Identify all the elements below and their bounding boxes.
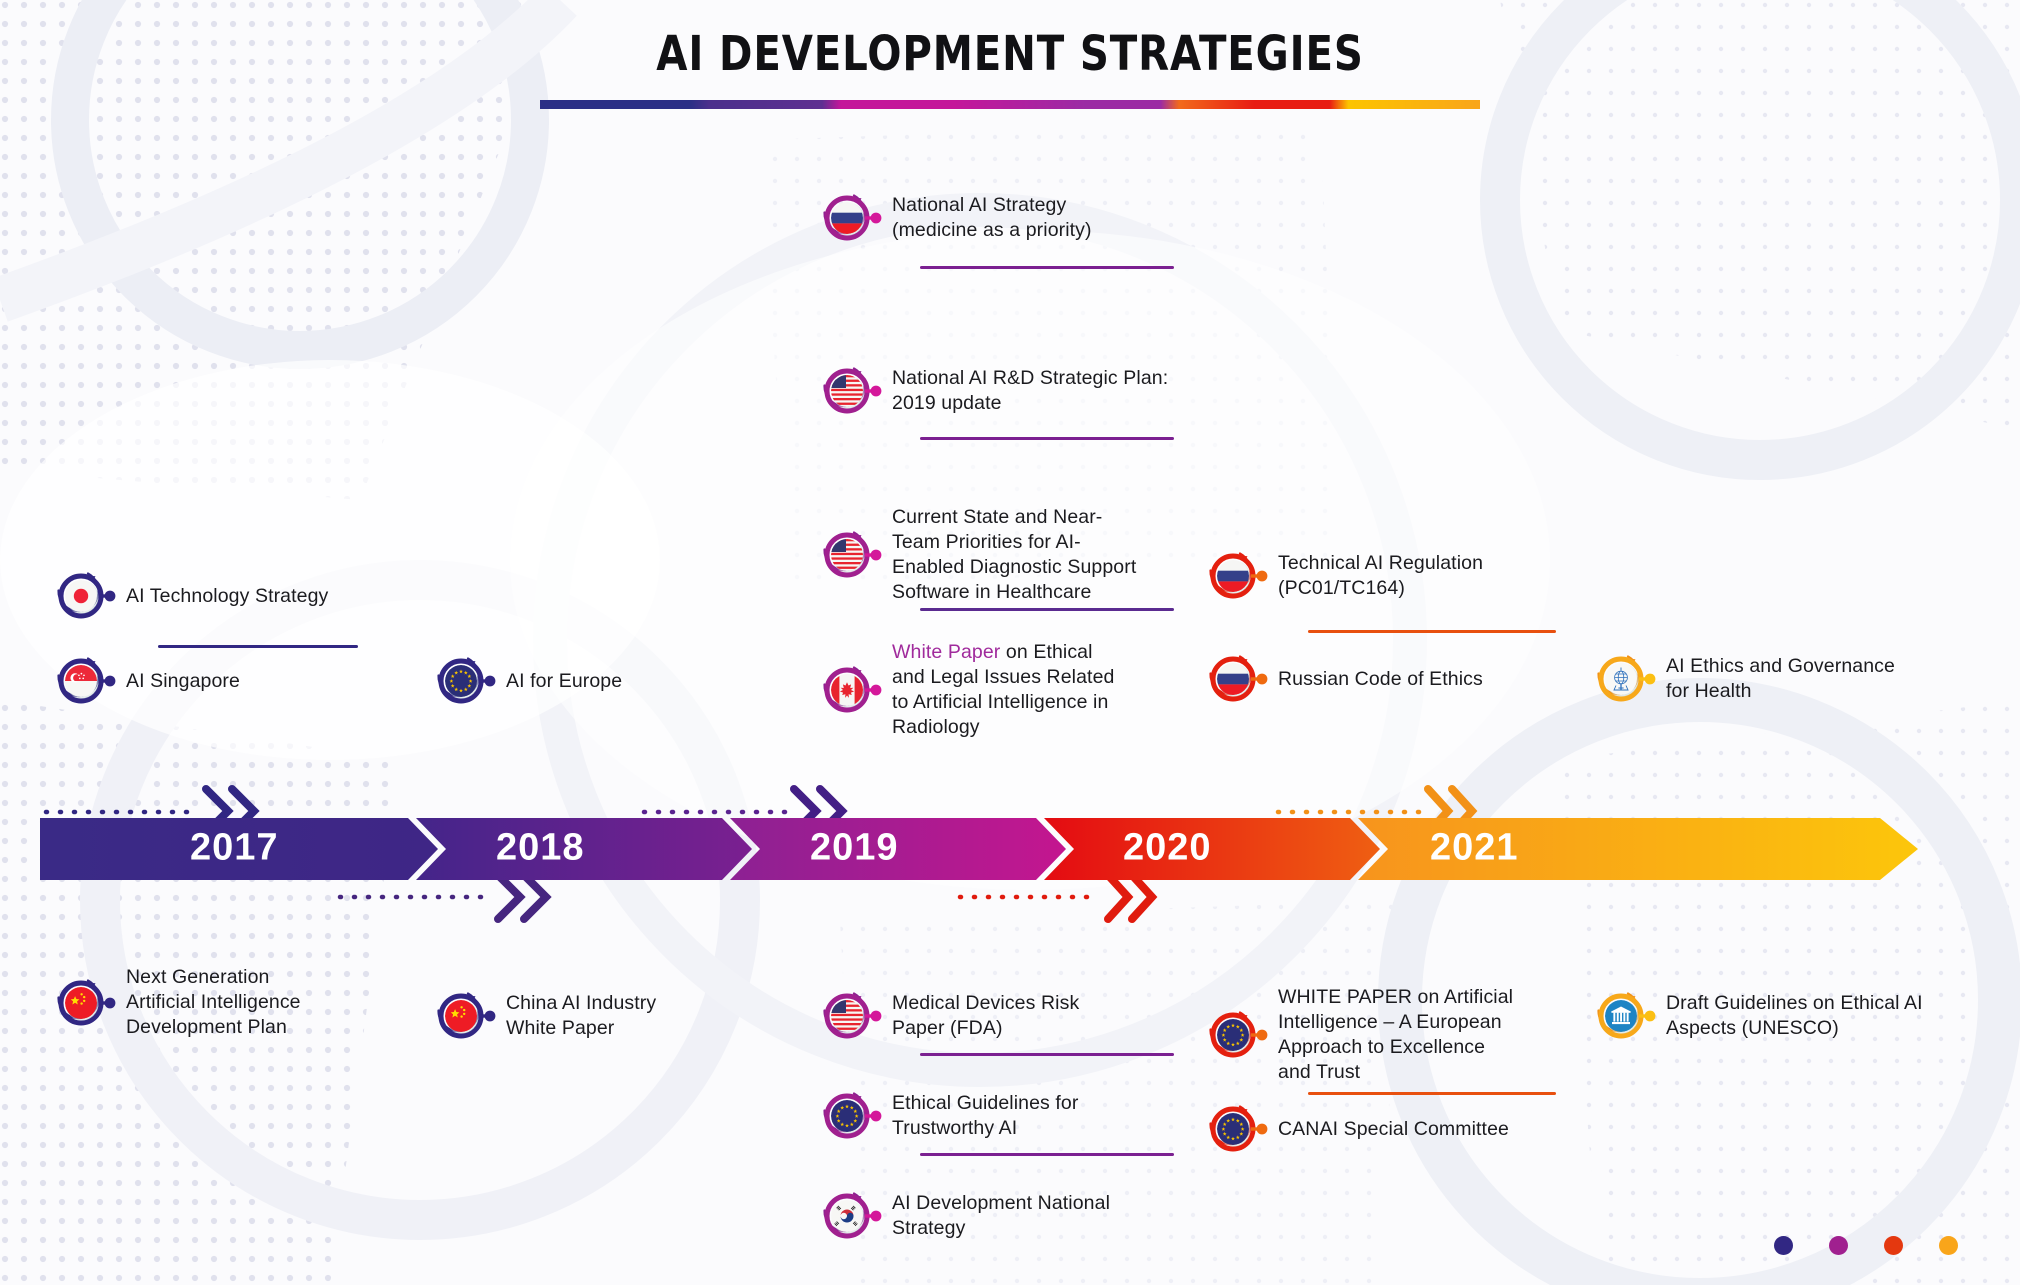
entry-label: AI Technology Strategy	[126, 584, 328, 609]
flag-badge-singapore	[48, 650, 110, 712]
flag-badge-svg	[814, 1185, 876, 1247]
entry-ai-singapore[interactable]: AI Singapore	[48, 650, 240, 712]
divider-2019-above-1	[920, 266, 1174, 269]
entry-white-paper-radiology-ca[interactable]: White Paper on Ethical and Legal Issues …	[814, 640, 1114, 740]
decor-dot-2	[1829, 1236, 1848, 1255]
entry-national-ai-rd-plan-us[interactable]: National AI R&D Strategic Plan: 2019 upd…	[814, 360, 1168, 422]
entry-canai-special-committee[interactable]: CANAI Special Committee	[1200, 1098, 1509, 1160]
entry-label: AI Ethics and Governance for Health	[1666, 654, 1895, 704]
timeline-svg	[40, 818, 1940, 880]
entry-next-generation-ai-development-plan-cn[interactable]: Next Generation Artificial Intelligence …	[48, 965, 301, 1040]
divider-2019-below-2	[920, 1153, 1174, 1156]
decor-dot-3	[1884, 1236, 1903, 1255]
timeline-segment-2017[interactable]	[40, 818, 438, 880]
flag-badge-usa	[814, 524, 876, 586]
entry-label: AI for Europe	[506, 669, 622, 694]
entry-label: Technical AI Regulation (PC01/TC164)	[1278, 551, 1483, 601]
timeline-segment-2018[interactable]	[416, 818, 752, 880]
entry-label: Draft Guidelines on Ethical AI Aspects (…	[1666, 991, 1923, 1041]
flag-badge-svg	[814, 187, 876, 249]
flag-badge-korea	[814, 1185, 876, 1247]
flag-badge-svg	[1588, 985, 1650, 1047]
entry-draft-guidelines-ethical-ai-unesco[interactable]: Draft Guidelines on Ethical AI Aspects (…	[1588, 985, 1923, 1047]
entry-label: China AI Industry White Paper	[506, 991, 656, 1041]
flag-badge-svg	[48, 565, 110, 627]
divider-2017-above	[158, 645, 358, 648]
page-title: AI DEVELOPMENT STRATEGIES	[162, 0, 1859, 82]
flag-badge-svg	[1588, 648, 1650, 710]
entry-medical-devices-risk-paper-fda[interactable]: Medical Devices Risk Paper (FDA)	[814, 985, 1079, 1047]
entry-national-ai-strategy-ru[interactable]: National AI Strategy (medicine as a prio…	[814, 187, 1092, 249]
flag-badge-eu	[428, 650, 490, 712]
entry-current-state-near-team-priorities-us[interactable]: Current State and Near- Team Priorities …	[814, 505, 1136, 605]
title-gradient-rule	[540, 100, 1480, 109]
entry-label: Next Generation Artificial Intelligence …	[126, 965, 301, 1040]
entry-label: Current State and Near- Team Priorities …	[892, 505, 1136, 605]
flag-badge-russia	[1200, 648, 1262, 710]
entry-label: National AI R&D Strategic Plan: 2019 upd…	[892, 366, 1168, 416]
entry-ai-ethics-governance-health-who[interactable]: AI Ethics and Governance for Health	[1588, 648, 1895, 710]
timeline-bar: 2017 2018 2019 2020 2021	[40, 818, 1940, 880]
decorative-dot-row	[1774, 1236, 1958, 1255]
flag-badge-svg	[428, 650, 490, 712]
flag-badge-svg	[48, 650, 110, 712]
flag-badge-svg	[814, 524, 876, 586]
timeline-segment-2020[interactable]	[1044, 818, 1380, 880]
flag-badge-svg	[1200, 1004, 1262, 1066]
divider-2019-above-2	[920, 437, 1174, 440]
flag-badge-usa	[814, 985, 876, 1047]
flag-badge-eu	[1200, 1098, 1262, 1160]
entry-technical-ai-regulation-ru[interactable]: Technical AI Regulation (PC01/TC164)	[1200, 545, 1483, 607]
decor-dot-4	[1939, 1236, 1958, 1255]
flag-badge-svg	[1200, 1098, 1262, 1160]
flag-badge-china	[428, 985, 490, 1047]
flag-badge-who	[1588, 648, 1650, 710]
flag-badge-japan	[48, 565, 110, 627]
entry-russian-code-of-ethics[interactable]: Russian Code of Ethics	[1200, 648, 1483, 710]
timeline-segments	[40, 818, 1918, 880]
flag-badge-svg	[814, 360, 876, 422]
entry-label: AI Singapore	[126, 669, 240, 694]
entry-label: Medical Devices Risk Paper (FDA)	[892, 991, 1079, 1041]
flag-badge-svg	[1200, 648, 1262, 710]
flag-badge-svg	[814, 985, 876, 1047]
flag-badge-svg	[814, 1085, 876, 1147]
divider-2020-below	[1308, 1092, 1556, 1095]
entry-china-ai-industry-white-paper[interactable]: China AI Industry White Paper	[428, 985, 656, 1047]
timeline-segment-2021[interactable]	[1358, 818, 1918, 880]
flag-badge-svg	[814, 659, 876, 721]
flag-badge-unesco	[1588, 985, 1650, 1047]
divider-2019-above-3	[920, 608, 1174, 611]
entry-label: AI Development National Strategy	[892, 1191, 1110, 1241]
flag-badge-svg	[48, 972, 110, 1034]
entry-label: CANAI Special Committee	[1278, 1117, 1509, 1142]
flag-badge-russia	[814, 187, 876, 249]
entry-ai-development-national-strategy-kr[interactable]: AI Development National Strategy	[814, 1185, 1110, 1247]
divider-2020-above	[1308, 630, 1556, 633]
entry-ethical-guidelines-trustworthy-ai[interactable]: Ethical Guidelines for Trustworthy AI	[814, 1085, 1078, 1147]
divider-2019-below-1	[920, 1053, 1174, 1056]
entry-ai-technology-strategy[interactable]: AI Technology Strategy	[48, 565, 328, 627]
page-header: AI DEVELOPMENT STRATEGIES	[0, 0, 2020, 130]
timeline-segment-2019[interactable]	[730, 818, 1066, 880]
entry-label-highlight: White Paper	[892, 641, 1000, 663]
flag-badge-usa	[814, 360, 876, 422]
entry-white-paper-european-approach[interactable]: WHITE PAPER on Artificial Intelligence –…	[1200, 985, 1513, 1085]
entry-label: WHITE PAPER on Artificial Intelligence –…	[1278, 985, 1513, 1085]
flag-badge-russia	[1200, 545, 1262, 607]
flag-badge-svg	[1200, 545, 1262, 607]
flag-badge-eu	[1200, 1004, 1262, 1066]
entry-label: Russian Code of Ethics	[1278, 667, 1483, 692]
entry-ai-for-europe[interactable]: AI for Europe	[428, 650, 622, 712]
flag-badge-china	[48, 972, 110, 1034]
flag-badge-eu	[814, 1085, 876, 1147]
entry-label-rich: White Paper on Ethical and Legal Issues …	[892, 640, 1114, 740]
entry-label: Ethical Guidelines for Trustworthy AI	[892, 1091, 1078, 1141]
entry-label: National AI Strategy (medicine as a prio…	[892, 193, 1092, 243]
decor-dot-1	[1774, 1236, 1793, 1255]
flag-badge-svg	[428, 985, 490, 1047]
flag-badge-canada	[814, 659, 876, 721]
